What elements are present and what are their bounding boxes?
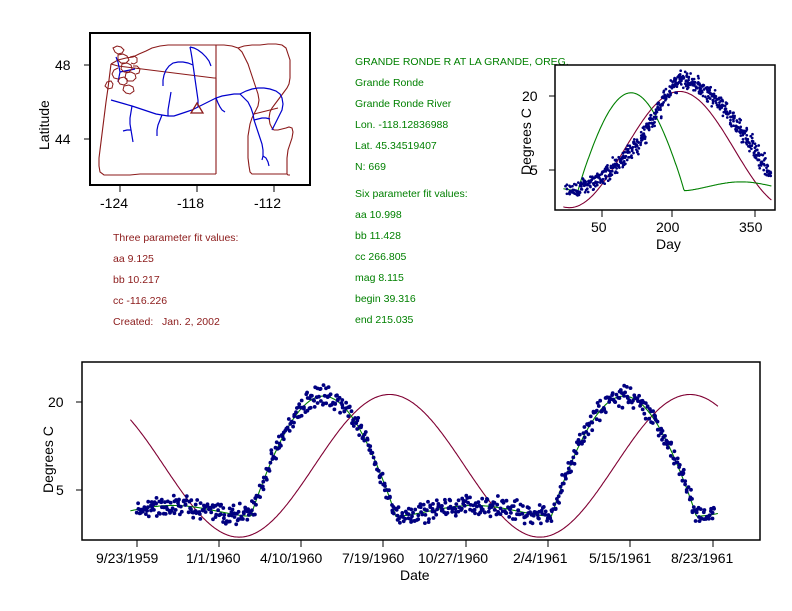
day-ytick-20: 20 — [522, 88, 538, 104]
ts-ylabel: Degrees C — [40, 426, 56, 493]
ts-xtick-1: 1/1/1960 — [186, 550, 241, 566]
ts-xtick-5: 2/4/1961 — [513, 550, 568, 566]
map-xtick-124: -124 — [100, 195, 128, 211]
six-param-mag: mag 8.115 — [355, 272, 404, 284]
six-param-begin: begin 39.316 — [355, 293, 416, 305]
station-lat: Lat. 45.34519407 — [355, 140, 437, 152]
map-ytick-48: 48 — [55, 57, 71, 73]
map-ylabel: Latitude — [36, 100, 52, 150]
day-of-year-plot: 20 5 50 200 350 Day Degrees C — [500, 55, 792, 240]
station-name: Grande Ronde — [355, 77, 424, 89]
three-param-aa: aa 9.125 — [113, 253, 154, 265]
day-xtick-50: 50 — [591, 219, 607, 235]
ts-xtick-0: 9/23/1959 — [96, 550, 158, 566]
six-param-aa: aa 10.998 — [355, 209, 402, 221]
day-plot-svg — [500, 55, 792, 240]
figure-canvas: 48 44 -124 -118 -112 Latitude GRANDE RON… — [0, 0, 792, 611]
six-param-end: end 215.035 — [355, 314, 413, 326]
station-river: Grande Ronde River — [355, 98, 451, 110]
day-xtick-350: 350 — [739, 219, 762, 235]
ts-xtick-4: 10/27/1960 — [418, 550, 488, 566]
three-param-cc: cc -116.226 — [113, 295, 167, 307]
map-xtick-112: -112 — [254, 195, 281, 211]
day-xlabel: Day — [656, 236, 681, 252]
time-series-svg — [0, 350, 792, 611]
ts-xtick-3: 7/19/1960 — [342, 550, 404, 566]
day-xtick-200: 200 — [656, 219, 679, 235]
time-series-plot: 20 5 Degrees C 9/23/1959 1/1/1960 4/10/1… — [0, 350, 792, 611]
day-ylabel: Degrees C — [518, 108, 534, 175]
three-param-bb: bb 10.217 — [113, 274, 160, 286]
six-param-heading: Six parameter fit values: — [355, 188, 468, 200]
three-param-heading: Three parameter fit values: — [113, 232, 238, 244]
ts-xtick-6: 5/15/1961 — [589, 550, 651, 566]
ts-xtick-7: 8/23/1961 — [671, 550, 733, 566]
six-param-bb: bb 11.428 — [355, 230, 401, 242]
ts-ytick-20: 20 — [48, 394, 64, 410]
map-ytick-44: 44 — [55, 131, 71, 147]
six-param-cc: cc 266.805 — [355, 251, 406, 263]
ts-xtick-2: 4/10/1960 — [260, 550, 322, 566]
station-n: N: 669 — [355, 161, 386, 173]
created-date: Created: Jan. 2, 2002 — [113, 316, 220, 328]
ts-xlabel: Date — [400, 567, 430, 583]
station-lon: Lon. -118.12836988 — [355, 119, 448, 131]
ts-ytick-5: 5 — [56, 482, 64, 498]
map-panel: 48 44 -124 -118 -112 Latitude — [0, 0, 330, 225]
map-xtick-118: -118 — [177, 195, 204, 211]
